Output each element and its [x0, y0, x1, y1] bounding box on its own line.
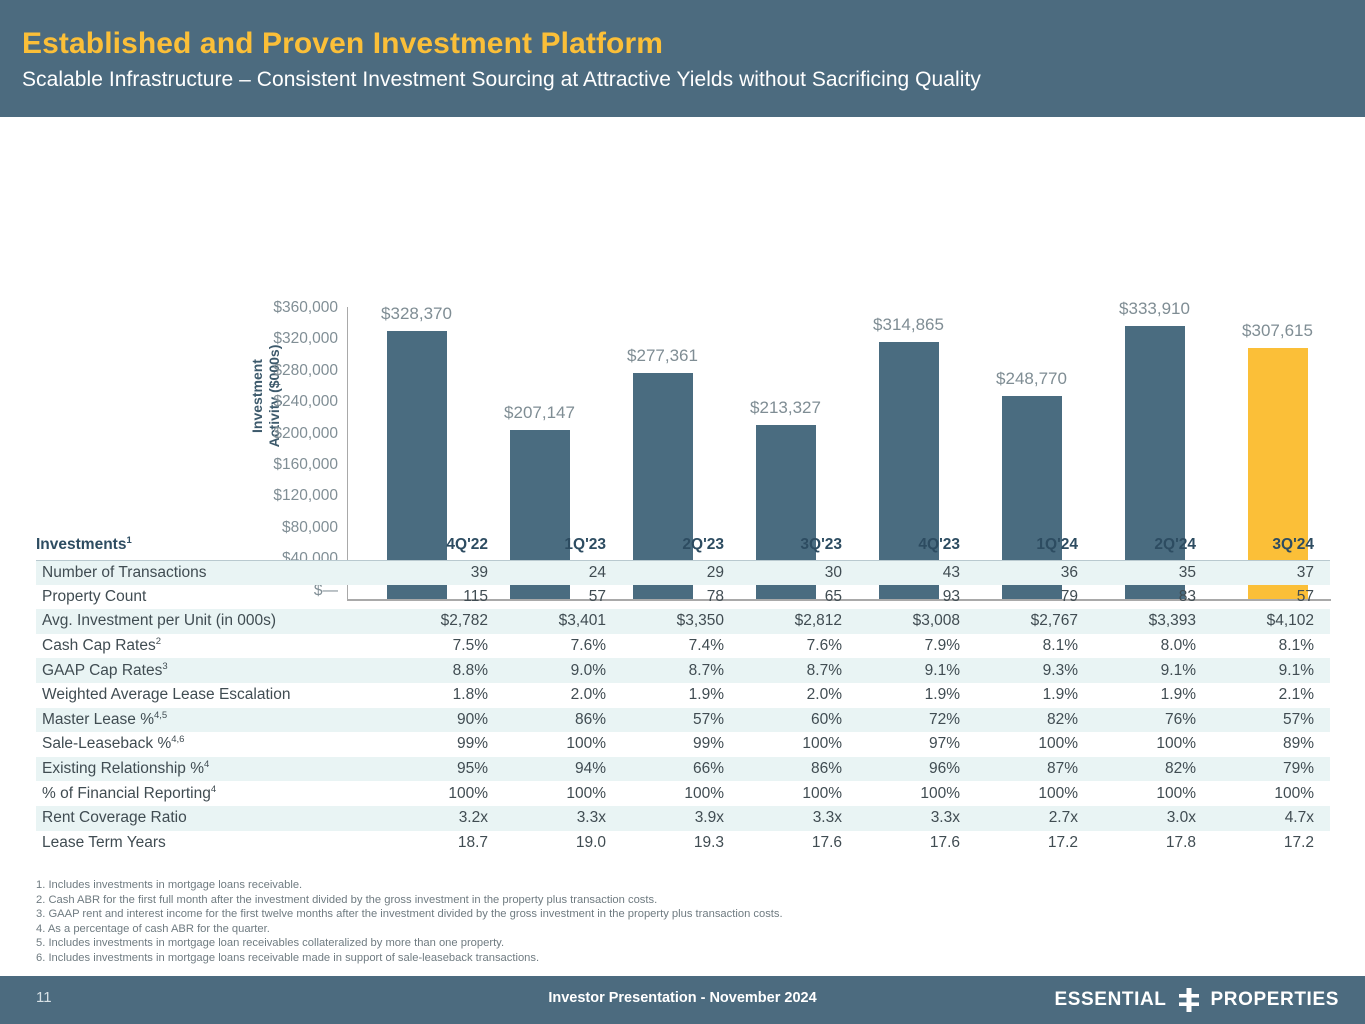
table-cell: 79 [976, 585, 1094, 610]
table-cell: 1.9% [858, 683, 976, 708]
table-cell: 7.4% [622, 634, 740, 659]
chart-bar-value-label: $213,327 [750, 398, 821, 418]
table-row: Cash Cap Rates27.5%7.6%7.4%7.6%7.9%8.1%8… [36, 634, 1330, 659]
table-cell: 3.2x [386, 806, 504, 831]
chart-bar-value-label: $207,147 [504, 403, 575, 423]
table-column-header: 2Q'23 [622, 530, 740, 560]
table-cell: 100% [1212, 781, 1330, 806]
table-cell: 9.1% [1212, 658, 1330, 683]
table-row: Existing Relationship %495%94%66%86%96%8… [36, 757, 1330, 782]
table-cell: 72% [858, 708, 976, 733]
table-cell: 60% [740, 708, 858, 733]
table-header-row: Investments1 4Q'221Q'232Q'233Q'234Q'231Q… [36, 530, 1330, 560]
logo-text-properties: PROPERTIES [1211, 989, 1339, 1011]
table-cell: 83 [1094, 585, 1212, 610]
table-cell: 115 [386, 585, 504, 610]
table-cell: 39 [386, 560, 504, 585]
logo-mark-icon [1176, 987, 1202, 1013]
table-cell: 89% [1212, 732, 1330, 757]
table-cell: 17.8 [1094, 831, 1212, 856]
table-row: Avg. Investment per Unit (in 000s)$2,782… [36, 609, 1330, 634]
table-cell: $3,393 [1094, 609, 1212, 634]
table-cell: 3.0x [1094, 806, 1212, 831]
y-axis-tick-label: $320,000 [220, 331, 338, 362]
table-row-label: Weighted Average Lease Escalation [36, 683, 386, 708]
table-column-header: 4Q'22 [386, 530, 504, 560]
table-cell: 1.9% [622, 683, 740, 708]
logo-text-essential: ESSENTIAL [1054, 989, 1166, 1011]
page-subtitle: Scalable Infrastructure – Consistent Inv… [22, 66, 1365, 94]
table-cell: 100% [976, 781, 1094, 806]
table-column-header: 1Q'23 [504, 530, 622, 560]
footnote-marker: 2 [156, 636, 161, 647]
table-cell: 7.5% [386, 634, 504, 659]
table-cell: 90% [386, 708, 504, 733]
table-cell: 3.3x [740, 806, 858, 831]
table-row-label: Existing Relationship %4 [36, 757, 386, 782]
chart-bar-value-label: $314,865 [873, 315, 944, 335]
table-row: Lease Term Years18.719.019.317.617.617.2… [36, 831, 1330, 856]
table-cell: 19.0 [504, 831, 622, 856]
table-cell: 29 [622, 560, 740, 585]
table-cell: 87% [976, 757, 1094, 782]
table-row-label: Property Count [36, 585, 386, 610]
table-cell: 2.0% [740, 683, 858, 708]
footnote-marker: 4,6 [171, 734, 184, 745]
footnote-marker: 4,5 [154, 710, 167, 721]
chart-bar-value-label: $277,361 [627, 346, 698, 366]
footnote-marker: 4 [211, 783, 216, 794]
table-cell: 8.7% [740, 658, 858, 683]
slide-footer: 11 Investor Presentation - November 2024… [0, 976, 1365, 1024]
table-cell: 100% [386, 781, 504, 806]
investments-table: Investments1 4Q'221Q'232Q'233Q'234Q'231Q… [36, 530, 1330, 855]
y-axis-tick-label: $360,000 [220, 300, 338, 331]
table-cell: 7.9% [858, 634, 976, 659]
table-cell: 86% [504, 708, 622, 733]
table-cell: 100% [976, 732, 1094, 757]
table-cell: 2.0% [504, 683, 622, 708]
table-row: GAAP Cap Rates38.8%9.0%8.7%8.7%9.1%9.3%9… [36, 658, 1330, 683]
table-cell: 43 [858, 560, 976, 585]
slide-header: Established and Proven Investment Platfo… [0, 0, 1365, 117]
footnote-item: 3. GAAP rent and interest income for the… [36, 907, 1136, 922]
y-axis-tick-label: $120,000 [220, 488, 338, 519]
table-cell: 65 [740, 585, 858, 610]
table-cell: $2,782 [386, 609, 504, 634]
table-cell: 94% [504, 757, 622, 782]
table-cell: $3,350 [622, 609, 740, 634]
table-cell: 97% [858, 732, 976, 757]
table-row-label: % of Financial Reporting4 [36, 781, 386, 806]
page-title: Established and Proven Investment Platfo… [22, 26, 1365, 62]
table-cell: 100% [1094, 732, 1212, 757]
table-row: Sale-Leaseback %4,699%100%99%100%97%100%… [36, 732, 1330, 757]
table-cell: 99% [622, 732, 740, 757]
table-cell: 100% [858, 781, 976, 806]
slide: Established and Proven Investment Platfo… [0, 0, 1365, 1024]
table-cell: 1.9% [1094, 683, 1212, 708]
table-cell: 8.1% [1212, 634, 1330, 659]
table-row: Rent Coverage Ratio3.2x3.3x3.9x3.3x3.3x2… [36, 806, 1330, 831]
table-cell: 100% [504, 732, 622, 757]
table-cell: 8.8% [386, 658, 504, 683]
y-axis-tick-label: $240,000 [220, 394, 338, 425]
footnote-item: 5. Includes investments in mortgage loan… [36, 936, 1136, 951]
table-cell: 19.3 [622, 831, 740, 856]
chart-bar-value-label: $333,910 [1119, 299, 1190, 319]
table-cell: 30 [740, 560, 858, 585]
table-cell: 8.7% [622, 658, 740, 683]
table-cell: 3.9x [622, 806, 740, 831]
table-cell: 17.6 [740, 831, 858, 856]
table-cell: 7.6% [504, 634, 622, 659]
table-cell: 95% [386, 757, 504, 782]
footnotes-list: 1. Includes investments in mortgage loan… [36, 878, 1136, 966]
table-cell: 86% [740, 757, 858, 782]
table-row-label: GAAP Cap Rates3 [36, 658, 386, 683]
table-column-header: 4Q'23 [858, 530, 976, 560]
table-cell: 99% [386, 732, 504, 757]
footnote-marker: 4 [204, 759, 209, 770]
table-cell: 4.7x [1212, 806, 1330, 831]
table-cell: 17.6 [858, 831, 976, 856]
table-row-label: Number of Transactions [36, 560, 386, 585]
table-cell: $3,401 [504, 609, 622, 634]
table-cell: 100% [504, 781, 622, 806]
table-cell: 82% [1094, 757, 1212, 782]
table-cell: 57 [504, 585, 622, 610]
table-cell: 100% [622, 781, 740, 806]
table-row: Number of Transactions3924293043363537 [36, 560, 1330, 585]
table-cell: $2,812 [740, 609, 858, 634]
y-axis-tick-label: $200,000 [220, 426, 338, 457]
table-cell: 37 [1212, 560, 1330, 585]
table-cell: $2,767 [976, 609, 1094, 634]
table-row-label: Master Lease %4,5 [36, 708, 386, 733]
table-cell: 82% [976, 708, 1094, 733]
table-row: % of Financial Reporting4100%100%100%100… [36, 781, 1330, 806]
table-cell: 35 [1094, 560, 1212, 585]
chart-bar-value-label: $328,370 [381, 304, 452, 324]
table-cell: 9.3% [976, 658, 1094, 683]
table-cell: 7.6% [740, 634, 858, 659]
table-cell: 18.7 [386, 831, 504, 856]
table-cell: 79% [1212, 757, 1330, 782]
table-cell: $3,008 [858, 609, 976, 634]
footnote-marker: 3 [162, 661, 167, 672]
chart-bar-value-label: $307,615 [1242, 321, 1313, 341]
table-cell: 100% [1094, 781, 1212, 806]
footnote-item: 2. Cash ABR for the first full month aft… [36, 893, 1136, 908]
table-row: Property Count11557786593798357 [36, 585, 1330, 610]
table-cell: 57% [622, 708, 740, 733]
table-cell: $4,102 [1212, 609, 1330, 634]
table-cell: 76% [1094, 708, 1212, 733]
table-row-label: Rent Coverage Ratio [36, 806, 386, 831]
footnote-item: 6. Includes investments in mortgage loan… [36, 951, 1136, 966]
table-cell: 8.0% [1094, 634, 1212, 659]
chart-bar-value-label: $248,770 [996, 369, 1067, 389]
table-column-header: 2Q'24 [1094, 530, 1212, 560]
table-cell: 3.3x [858, 806, 976, 831]
table-row: Weighted Average Lease Escalation1.8%2.0… [36, 683, 1330, 708]
table-cell: 9.0% [504, 658, 622, 683]
footnote-marker: 1 [126, 534, 131, 545]
table-cell: 1.9% [976, 683, 1094, 708]
table-cell: 9.1% [1094, 658, 1212, 683]
footnote-item: 1. Includes investments in mortgage loan… [36, 878, 1136, 893]
table-cell: 66% [622, 757, 740, 782]
table-row: Master Lease %4,590%86%57%60%72%82%76%57… [36, 708, 1330, 733]
table-row-label: Sale-Leaseback %4,6 [36, 732, 386, 757]
table-row-label: Lease Term Years [36, 831, 386, 856]
table-cell: 9.1% [858, 658, 976, 683]
company-logo: ESSENTIAL PROPERTIES [1054, 987, 1339, 1013]
y-axis-tick-label: $280,000 [220, 363, 338, 394]
table-cell: 78 [622, 585, 740, 610]
table-cell: 24 [504, 560, 622, 585]
y-axis-tick-label: $160,000 [220, 457, 338, 488]
table-column-header: 3Q'23 [740, 530, 858, 560]
table-cell: 2.7x [976, 806, 1094, 831]
table-cell: 2.1% [1212, 683, 1330, 708]
table-cell: 17.2 [976, 831, 1094, 856]
footnote-item: 4. As a percentage of cash ABR for the q… [36, 922, 1136, 937]
table-cell: 17.2 [1212, 831, 1330, 856]
table-column-header: 1Q'24 [976, 530, 1094, 560]
table-cell: 57% [1212, 708, 1330, 733]
table-cell: 3.3x [504, 806, 622, 831]
table-cell: 96% [858, 757, 976, 782]
table-cell: 93 [858, 585, 976, 610]
table-row-label: Avg. Investment per Unit (in 000s) [36, 609, 386, 634]
table-cell: 100% [740, 781, 858, 806]
table-cell: 1.8% [386, 683, 504, 708]
table-column-header: 3Q'24 [1212, 530, 1330, 560]
table-cell: 57 [1212, 585, 1330, 610]
table-row-label: Cash Cap Rates2 [36, 634, 386, 659]
table-cell: 8.1% [976, 634, 1094, 659]
table-cell: 36 [976, 560, 1094, 585]
table-cell: 100% [740, 732, 858, 757]
table-header-label: Investments1 [36, 530, 386, 560]
investment-activity-chart: Investment Activity ($000s) $360,000$320… [0, 117, 1365, 517]
